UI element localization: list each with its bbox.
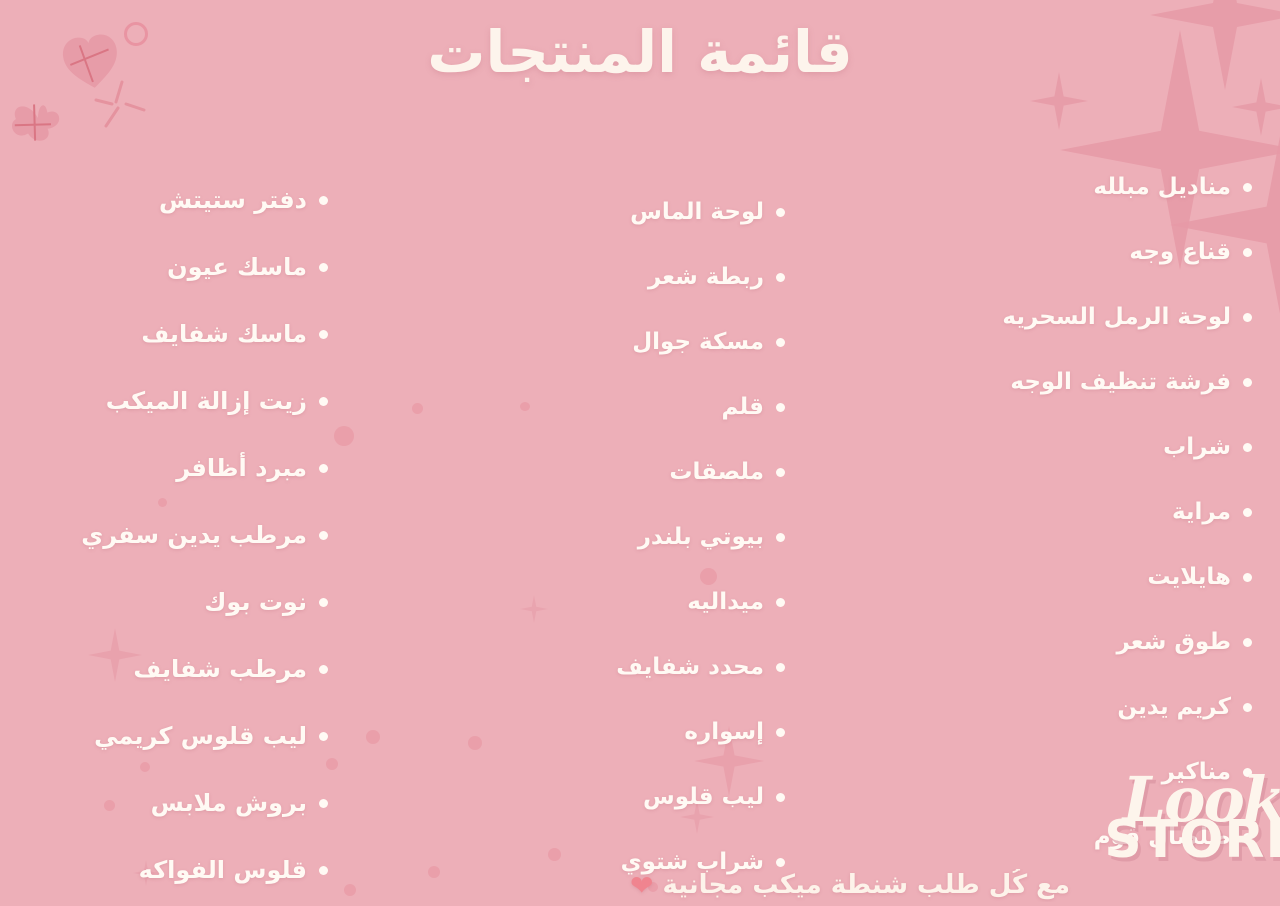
- heart-icon: ❤: [630, 869, 653, 902]
- product-columns: مناديل مبلله قناع وجه لوحة الرمل السحريه…: [0, 168, 1280, 906]
- product-name: مرطب يدين سفري: [81, 521, 307, 549]
- promo-note-text: مع كُل طلب شنطة ميكب مجانية: [663, 870, 1070, 900]
- bullet-dot-icon: [776, 468, 785, 477]
- product-column-right: دفتر ستيتش ماسك عيون ماسك شفايف زيت إزال…: [28, 168, 328, 906]
- product-name: بروش ملابس: [151, 789, 307, 817]
- product-name: ربطة شعر: [648, 264, 764, 290]
- bullet-dot-icon: [319, 397, 328, 406]
- butterfly-doodle-icon: [2, 82, 74, 154]
- product-name: كريم يدين: [1117, 694, 1231, 720]
- bullet-dot-icon: [776, 858, 785, 867]
- bullet-dot-icon: [1243, 703, 1252, 712]
- list-item[interactable]: ليب قلوس: [643, 784, 785, 810]
- product-name: شراب: [1163, 434, 1231, 460]
- product-name: لوحة الماس: [630, 199, 764, 225]
- product-column-middle: لوحة الماس ربطة شعر مسكة جوال قلم ملصقات…: [495, 168, 785, 906]
- bullet-dot-icon: [319, 665, 328, 674]
- list-item[interactable]: محدد شفايف: [616, 654, 785, 680]
- list-item[interactable]: هايلايت: [1147, 564, 1252, 590]
- list-item[interactable]: نوت بوك: [204, 588, 328, 616]
- list-item[interactable]: ملصقات: [669, 459, 785, 485]
- product-name: هايلايت: [1147, 564, 1231, 590]
- product-name: ليب قلوس: [643, 784, 764, 810]
- bullet-dot-icon: [319, 732, 328, 741]
- product-name: ماسك عيون: [167, 253, 307, 281]
- bullet-dot-icon: [776, 338, 785, 347]
- bullet-dot-icon: [776, 728, 785, 737]
- product-name: ماسك شفايف: [141, 320, 307, 348]
- product-list-poster: قائمة المنتجات مناديل مبلله قناع وجه لوح…: [0, 0, 1280, 906]
- product-name: محدد شفايف: [616, 654, 764, 680]
- bullet-dot-icon: [1243, 248, 1252, 257]
- brand-logo: Look STORE: [1104, 775, 1280, 862]
- list-item[interactable]: قناع وجه: [1129, 239, 1252, 265]
- product-name: طوق شعر: [1116, 629, 1231, 655]
- product-name: نوت بوك: [204, 588, 307, 616]
- bullet-dot-icon: [776, 273, 785, 282]
- product-name: مناديل مبلله: [1093, 174, 1231, 200]
- bullet-dot-icon: [776, 208, 785, 217]
- bullet-dot-icon: [776, 663, 785, 672]
- product-name: قناع وجه: [1129, 239, 1231, 265]
- bullet-dot-icon: [319, 263, 328, 272]
- product-name: إسواره: [684, 719, 764, 745]
- bullet-dot-icon: [776, 403, 785, 412]
- list-item[interactable]: فرشة تنظيف الوجه: [1010, 369, 1252, 395]
- page-title: قائمة المنتجات: [0, 18, 1280, 88]
- list-item[interactable]: مراية: [1172, 499, 1252, 525]
- logo-word-text: STORE: [1104, 819, 1280, 862]
- bullet-dot-icon: [1243, 638, 1252, 647]
- bullet-dot-icon: [1243, 508, 1252, 517]
- product-name: لوحة الرمل السحريه: [1002, 304, 1231, 330]
- bullet-dot-icon: [319, 866, 328, 875]
- list-item[interactable]: لوحة الماس: [630, 199, 785, 225]
- product-name: مبرد أظافر: [176, 454, 307, 482]
- product-name: زيت إزالة الميكب: [106, 387, 307, 415]
- list-item[interactable]: ماسك شفايف: [141, 320, 328, 348]
- list-item[interactable]: ربطة شعر: [648, 264, 785, 290]
- bullet-dot-icon: [1243, 183, 1252, 192]
- bullet-dot-icon: [776, 533, 785, 542]
- list-item[interactable]: بيوتي بلندر: [638, 524, 785, 550]
- list-item[interactable]: ليب قلوس كريمي: [94, 722, 328, 750]
- bullet-dot-icon: [1243, 443, 1252, 452]
- bullet-dot-icon: [776, 793, 785, 802]
- list-item[interactable]: شراب: [1163, 434, 1252, 460]
- product-name: ملصقات: [669, 459, 764, 485]
- bullet-dot-icon: [319, 531, 328, 540]
- list-item[interactable]: مناديل مبلله: [1093, 174, 1252, 200]
- product-name: مرطب شفايف: [133, 655, 307, 683]
- bullet-dot-icon: [1243, 378, 1252, 387]
- list-item[interactable]: لوحة الرمل السحريه: [1002, 304, 1252, 330]
- product-name: فرشة تنظيف الوجه: [1010, 369, 1231, 395]
- product-name: ميداليه: [687, 589, 764, 615]
- product-name: ليب قلوس كريمي: [94, 722, 307, 750]
- list-item[interactable]: مرطب شفايف: [133, 655, 328, 683]
- bullet-dot-icon: [319, 464, 328, 473]
- bullet-dot-icon: [319, 330, 328, 339]
- list-item[interactable]: ماسك عيون: [167, 253, 328, 281]
- bullet-dot-icon: [776, 598, 785, 607]
- promo-note: مع كُل طلب شنطة ميكب مجانية ❤: [420, 869, 1280, 902]
- list-item[interactable]: زيت إزالة الميكب: [106, 387, 328, 415]
- list-item[interactable]: طوق شعر: [1116, 629, 1252, 655]
- product-name: مراية: [1172, 499, 1231, 525]
- product-name: قلم: [722, 394, 765, 420]
- list-item[interactable]: إسواره: [684, 719, 785, 745]
- list-item[interactable]: ميداليه: [687, 589, 785, 615]
- bullet-dot-icon: [319, 196, 328, 205]
- product-name: بيوتي بلندر: [638, 524, 764, 550]
- bullet-dot-icon: [319, 598, 328, 607]
- product-name: مسكة جوال: [632, 329, 764, 355]
- product-name: قلوس الفواكه: [139, 856, 307, 884]
- list-item[interactable]: قلم: [722, 394, 786, 420]
- list-item[interactable]: كريم يدين: [1117, 694, 1252, 720]
- product-name: دفتر ستيتش: [159, 186, 307, 214]
- list-item[interactable]: مبرد أظافر: [176, 454, 328, 482]
- list-item[interactable]: دفتر ستيتش: [159, 186, 328, 214]
- list-item[interactable]: بروش ملابس: [151, 789, 328, 817]
- list-item[interactable]: مرطب يدين سفري: [81, 521, 328, 549]
- list-item[interactable]: قلوس الفواكه: [139, 856, 328, 884]
- bullet-dot-icon: [319, 799, 328, 808]
- bullet-dot-icon: [1243, 573, 1252, 582]
- bullet-dot-icon: [1243, 313, 1252, 322]
- list-item[interactable]: مسكة جوال: [632, 329, 785, 355]
